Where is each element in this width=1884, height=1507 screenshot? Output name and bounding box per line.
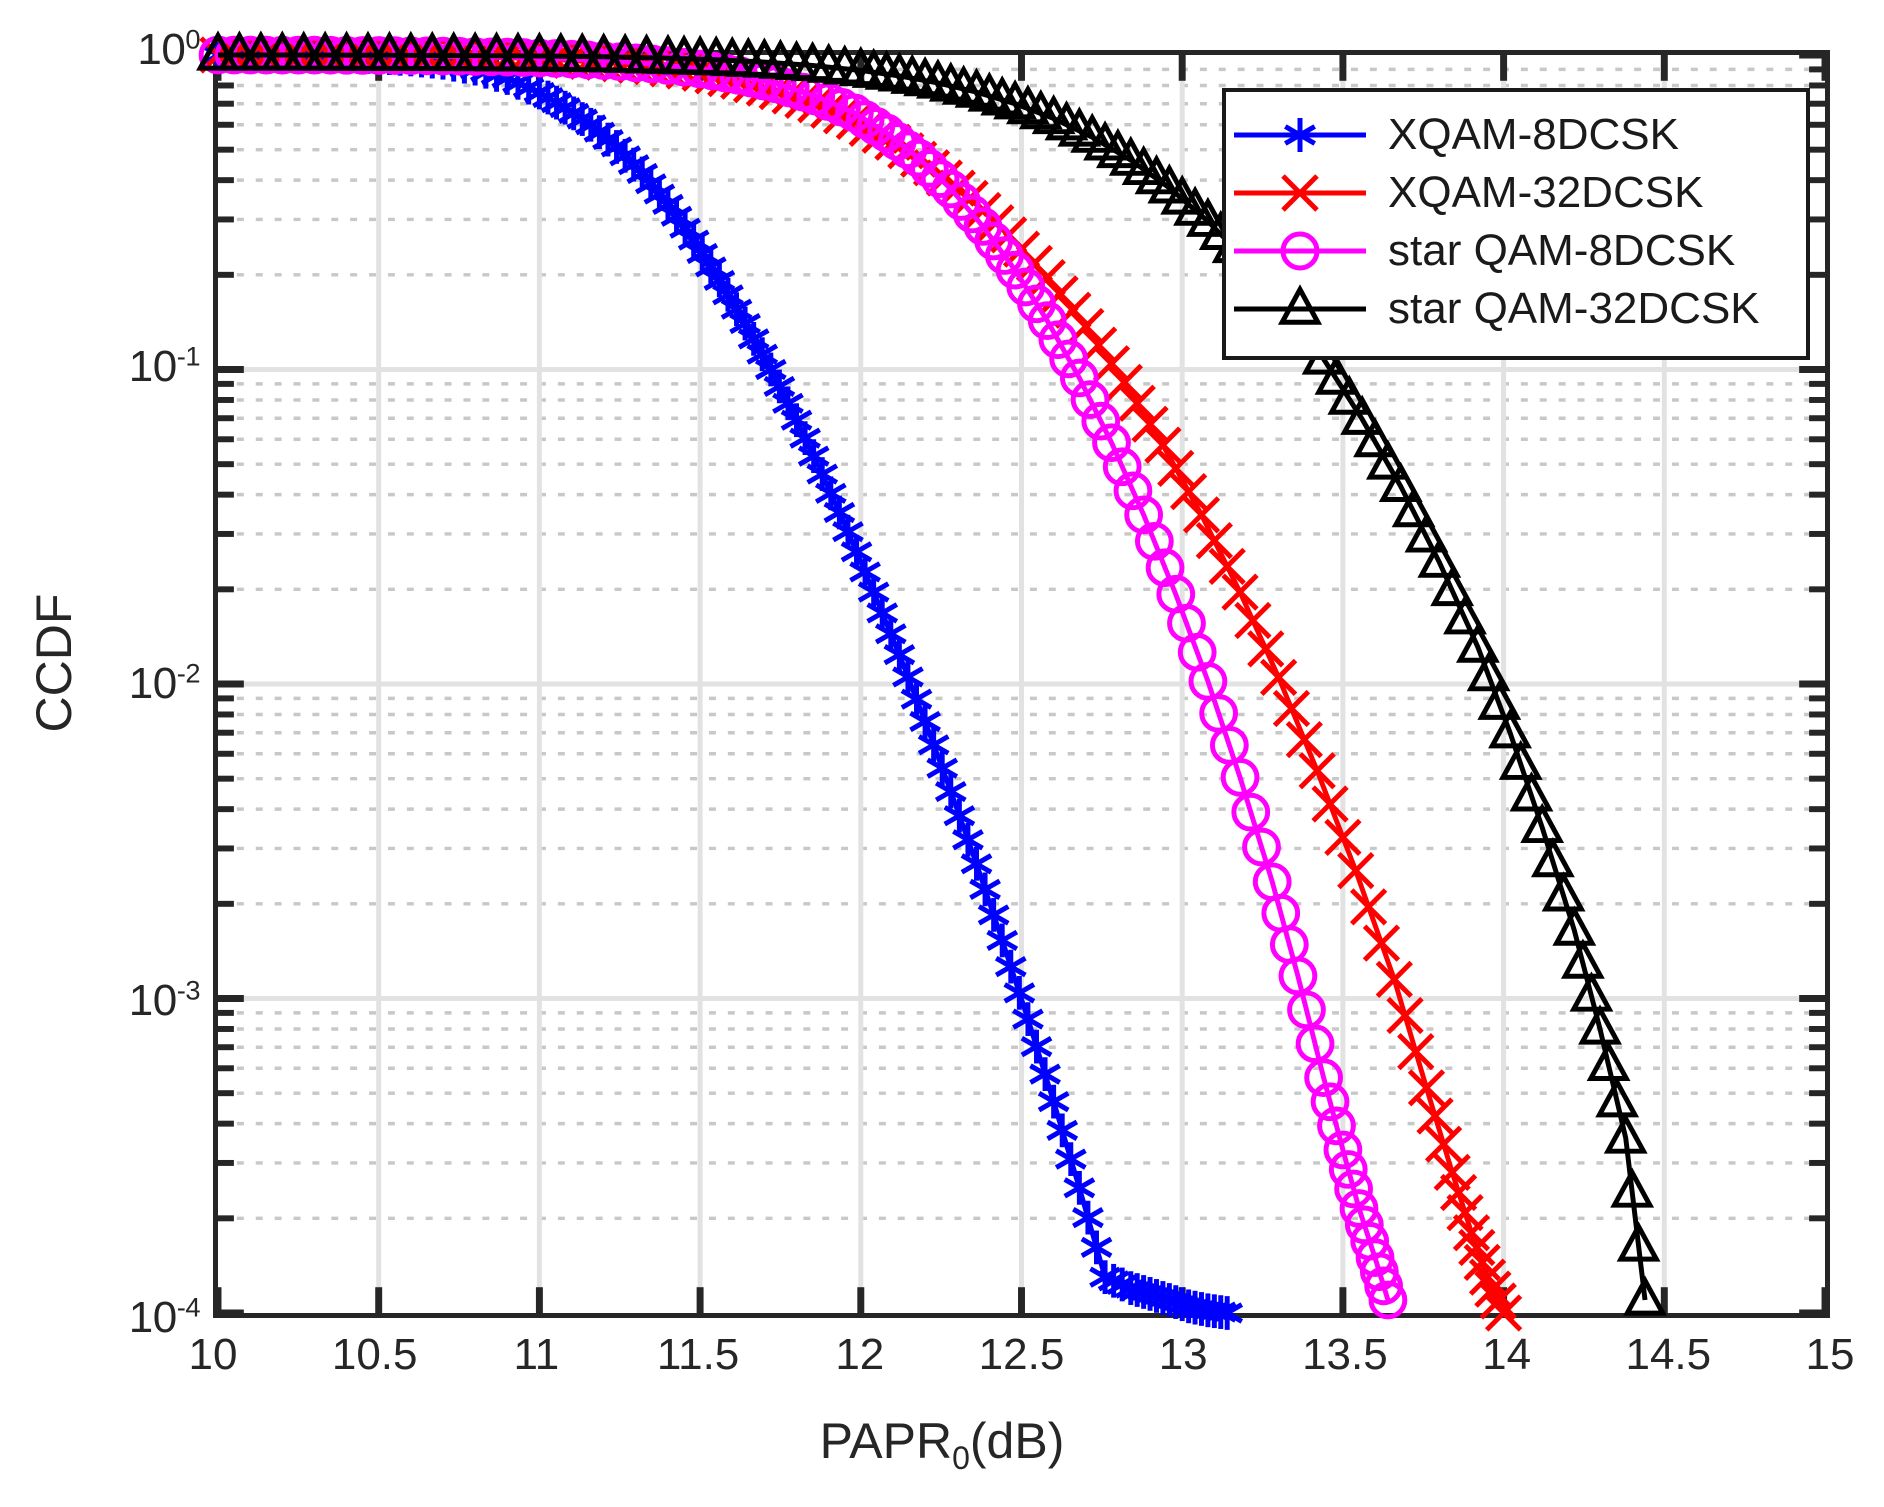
legend-label: XQAM-8DCSK	[1374, 110, 1679, 160]
y-tick-mantissa: 10	[129, 659, 177, 708]
y-tick-exponent: -4	[177, 1291, 200, 1322]
x-tick-label: 12	[835, 1330, 884, 1380]
x-axis-title-unit: (dB)	[970, 1413, 1064, 1469]
y-tick-exponent: 0	[185, 23, 200, 54]
x-axis-title: PAPR0(dB)	[0, 1412, 1884, 1470]
y-tick-label: 10-2	[129, 659, 200, 709]
x-axis-title-subscript: 0	[952, 1440, 970, 1476]
legend-swatch-asterisk-icon	[1226, 106, 1374, 164]
papr-ccdf-figure: 10010-110-210-310-4 PAPR0(dB) CCDF XQAM-…	[0, 0, 1884, 1507]
y-tick-label: 10-1	[129, 342, 200, 392]
x-tick-label: 15	[1806, 1330, 1855, 1380]
legend: XQAM-8DCSKXQAM-32DCSKstar QAM-8DCSKstar …	[1222, 88, 1810, 360]
y-tick-mantissa: 10	[129, 342, 177, 391]
x-tick-label: 13.5	[1302, 1330, 1388, 1380]
x-axis-title-main: PAPR	[820, 1413, 952, 1469]
legend-item-0[interactable]: XQAM-8DCSK	[1226, 106, 1806, 164]
x-tick-label: 10	[189, 1330, 238, 1380]
x-tick-label: 11	[514, 1330, 560, 1380]
y-tick-exponent: -3	[177, 974, 200, 1005]
legend-label: star QAM-32DCSK	[1374, 284, 1760, 334]
legend-label: star QAM-8DCSK	[1374, 226, 1735, 276]
y-axis-title: CCDF	[25, 563, 83, 763]
legend-swatch-circle-icon	[1226, 222, 1374, 280]
y-tick-label: 100	[137, 25, 200, 75]
x-tick-label: 13	[1159, 1330, 1208, 1380]
legend-item-1[interactable]: XQAM-32DCSK	[1226, 164, 1806, 222]
legend-swatch-triangle-icon	[1226, 280, 1374, 338]
x-tick-label: 14.5	[1625, 1330, 1711, 1380]
y-tick-exponent: -2	[177, 657, 200, 688]
y-tick-mantissa: 10	[129, 1293, 177, 1342]
legend-item-2[interactable]: star QAM-8DCSK	[1226, 222, 1806, 280]
x-tick-label: 14	[1482, 1330, 1531, 1380]
y-tick-mantissa: 10	[129, 976, 177, 1025]
y-tick-exponent: -1	[177, 340, 200, 371]
legend-label: XQAM-32DCSK	[1374, 168, 1703, 218]
y-tick-label: 10-3	[129, 976, 200, 1026]
legend-swatch-x-icon	[1226, 164, 1374, 222]
legend-item-3[interactable]: star QAM-32DCSK	[1226, 280, 1806, 338]
x-tick-label: 11.5	[657, 1330, 739, 1380]
y-tick-mantissa: 10	[137, 25, 185, 74]
x-tick-label: 12.5	[979, 1330, 1065, 1380]
x-tick-label: 10.5	[332, 1330, 418, 1380]
